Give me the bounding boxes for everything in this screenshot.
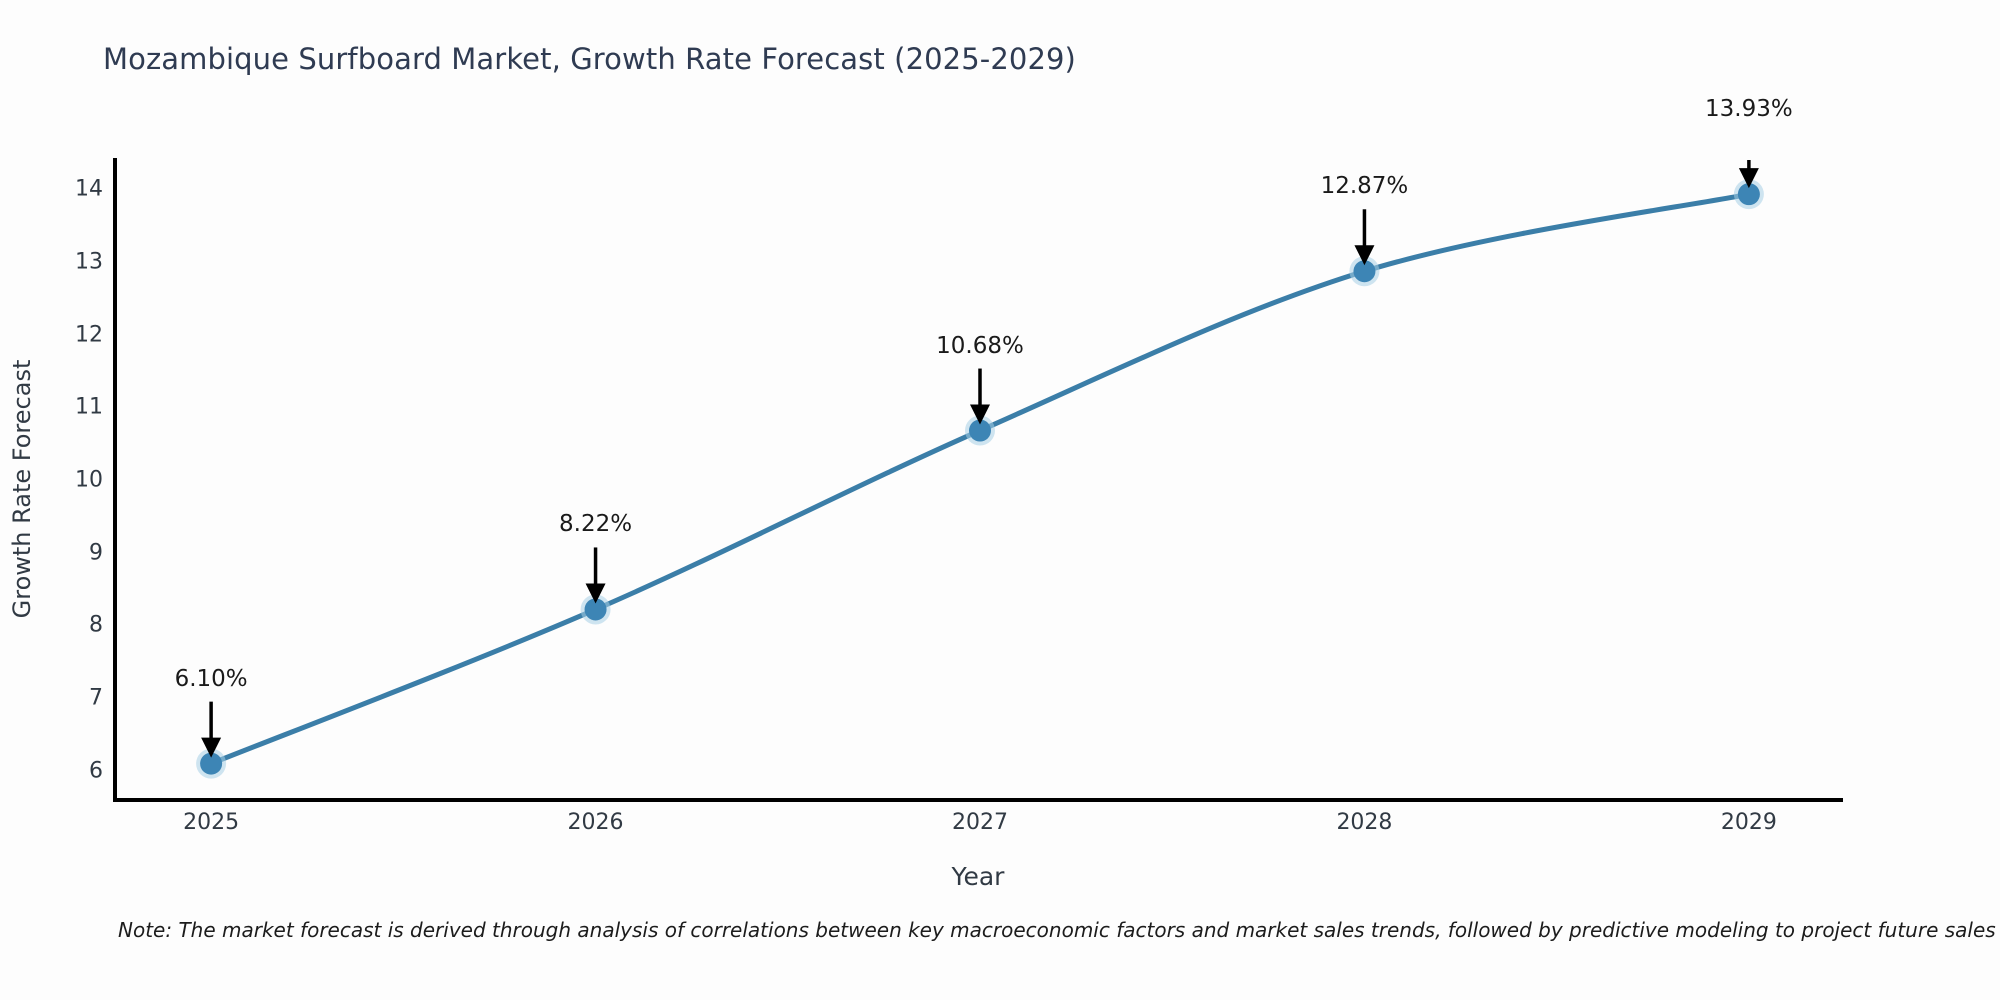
chart-footnote: Note: The market forecast is derived thr… (118, 918, 1996, 942)
growth-rate-line-series (115, 160, 1960, 800)
point-value-label-2029: 13.93% (1705, 96, 1793, 122)
point-value-label-2025: 6.10% (175, 666, 248, 692)
y-tick-label-11: 11 (75, 395, 103, 420)
y-tick-label-12: 12 (75, 322, 103, 347)
y-tick-label-14: 14 (75, 177, 103, 202)
y-tick-label-8: 8 (89, 613, 103, 638)
point-value-label-2026: 8.22% (559, 511, 632, 537)
x-tick-label-2025: 2025 (183, 810, 239, 835)
trend-line (211, 194, 1749, 763)
x-tick-label-2029: 2029 (1721, 810, 1777, 835)
chart-figure: Mozambique Surfboard Market, Growth Rate… (0, 0, 2000, 1000)
x-tick-label-2026: 2026 (568, 810, 624, 835)
y-axis-tick-labels: 67891011121314 (0, 0, 103, 1000)
chart-title: Mozambique Surfboard Market, Growth Rate… (103, 42, 1076, 76)
y-tick-label-9: 9 (89, 540, 103, 565)
y-tick-label-10: 10 (75, 468, 103, 493)
x-axis-title: Year (113, 862, 1843, 891)
point-value-label-2028: 12.87% (1321, 173, 1409, 199)
y-tick-label-13: 13 (75, 249, 103, 274)
y-tick-label-7: 7 (89, 686, 103, 711)
x-tick-label-2028: 2028 (1336, 810, 1392, 835)
point-value-label-2027: 10.68% (936, 333, 1024, 359)
plot-area (115, 160, 1960, 800)
x-tick-label-2027: 2027 (952, 810, 1008, 835)
y-tick-label-6: 6 (89, 758, 103, 783)
